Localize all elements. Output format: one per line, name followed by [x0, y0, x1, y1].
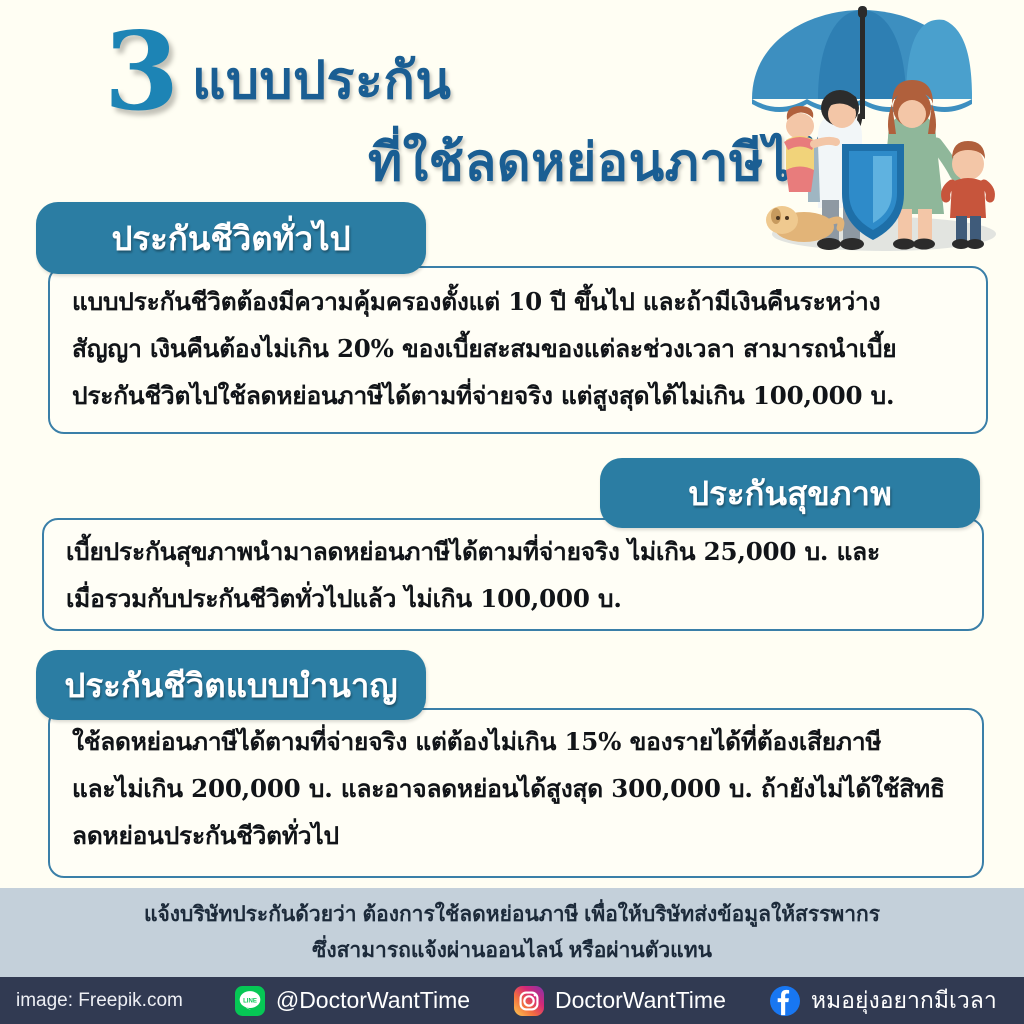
facebook-icon	[770, 986, 800, 1016]
body-line: ลดหย่อนประกันชีวิตทั่วไป	[72, 812, 964, 859]
body-line: สัญญา เงินคืนต้องไม่เกิน 20% ของเบี้ยสะส…	[72, 325, 968, 372]
social-facebook[interactable]: หมอยุ่งอยากมีเวลา	[770, 983, 997, 1019]
section-2-card: เบี้ยประกันสุขภาพนำมาลดหย่อนภาษีได้ตามที…	[42, 518, 984, 631]
section-1-heading: ประกันชีวิตทั่วไป	[36, 202, 426, 274]
footer-bar: image: Freepik.com LINE @DoctorWantTime	[0, 977, 1024, 1024]
section-3-card: ใช้ลดหย่อนภาษีได้ตามที่จ่ายจริง แต่ต้องไ…	[48, 708, 984, 878]
image-credit: image: Freepik.com	[16, 990, 183, 1012]
note-line-2: ซึ่งสามารถแจ้งผ่านออนไลน์ หรือผ่านตัวแทน	[312, 933, 712, 969]
section-2-body: เบี้ยประกันสุขภาพนำมาลดหย่อนภาษีได้ตามที…	[66, 528, 964, 622]
social-facebook-label: หมอยุ่งอยากมีเวลา	[811, 983, 997, 1019]
body-line: แบบประกันชีวิตต้องมีความคุ้มครองตั้งแต่ …	[72, 278, 968, 325]
poster-header: 3 แบบประกัน ที่ใช้ลดหย่อนภาษีได้	[0, 0, 1024, 200]
section-3-heading: ประกันชีวิตแบบบำนาญ	[36, 650, 426, 720]
footer-note-band: แจ้งบริษัทประกันด้วยว่า ต้องการใช้ลดหย่อ…	[0, 888, 1024, 977]
body-line: ใช้ลดหย่อนภาษีได้ตามที่จ่ายจริง แต่ต้องไ…	[72, 718, 964, 765]
social-line-label: @DoctorWantTime	[276, 987, 470, 1014]
note-line-1: แจ้งบริษัทประกันด้วยว่า ต้องการใช้ลดหย่อ…	[144, 897, 880, 933]
instagram-icon	[514, 986, 544, 1016]
body-line: ประกันชีวิตไปใช้ลดหย่อนภาษีได้ตามที่จ่าย…	[72, 372, 968, 419]
social-instagram[interactable]: DoctorWantTime	[514, 986, 726, 1016]
body-line: เบี้ยประกันสุขภาพนำมาลดหย่อนภาษีได้ตามที…	[66, 528, 964, 575]
infographic-poster: 3 แบบประกัน ที่ใช้ลดหย่อนภาษีได้	[0, 0, 1024, 1024]
social-line[interactable]: LINE @DoctorWantTime	[235, 986, 470, 1016]
section-3-body: ใช้ลดหย่อนภาษีได้ตามที่จ่ายจริง แต่ต้องไ…	[72, 718, 964, 859]
headline-line-1: แบบประกัน	[192, 38, 451, 121]
headline-number: 3	[104, 18, 179, 126]
section-2-heading: ประกันสุขภาพ	[600, 458, 980, 528]
social-instagram-label: DoctorWantTime	[555, 987, 726, 1014]
line-icon: LINE	[235, 986, 265, 1016]
body-line: เมื่อรวมกับประกันชีวิตทั่วไปแล้ว ไม่เกิน…	[66, 575, 964, 622]
section-1-card: แบบประกันชีวิตต้องมีความคุ้มครองตั้งแต่ …	[48, 266, 988, 434]
family-umbrella-shield-icon	[732, 4, 1022, 254]
svg-text:LINE: LINE	[243, 997, 257, 1004]
body-line: และไม่เกิน 200,000 บ. และอาจลดหย่อนได้สู…	[72, 765, 964, 812]
section-1-body: แบบประกันชีวิตต้องมีความคุ้มครองตั้งแต่ …	[72, 278, 968, 419]
